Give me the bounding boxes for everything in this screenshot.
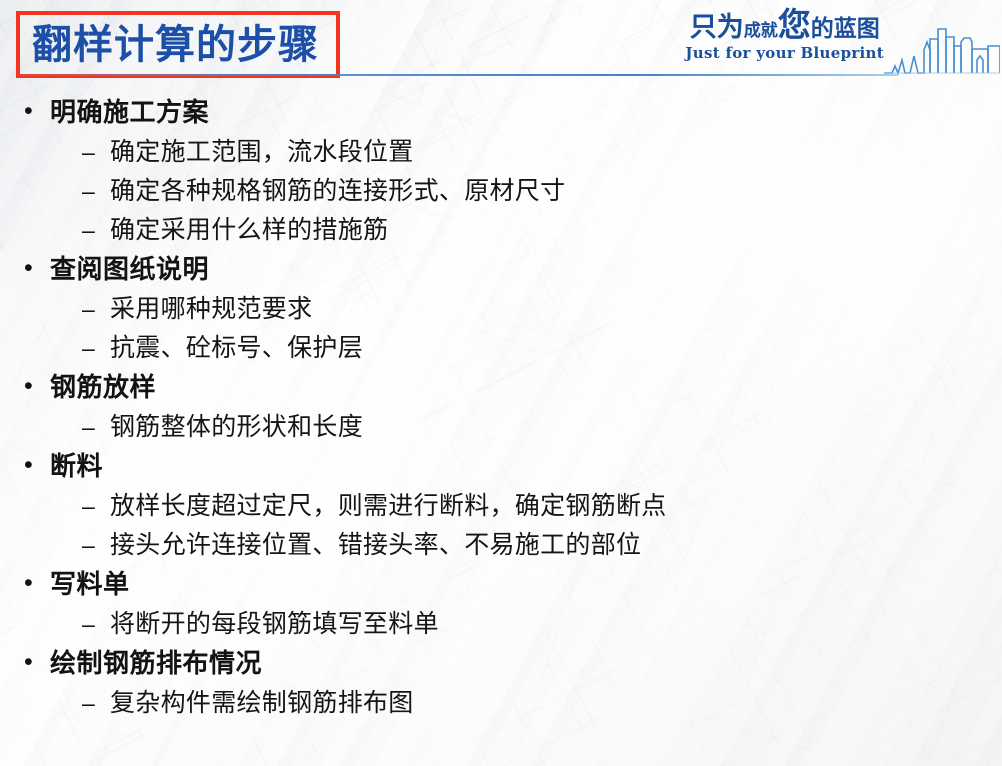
bullet-level2-label: 钢筋整体的形状和长度 bbox=[110, 411, 363, 443]
bullet-marker-icon: • bbox=[24, 450, 50, 480]
bullet-level1-label: 明确施工方案 bbox=[50, 96, 209, 130]
bullet-level1: • 明确施工方案 bbox=[0, 96, 1002, 136]
dash-marker-icon: – bbox=[82, 529, 110, 561]
bullet-level1: • 断料 bbox=[0, 450, 1002, 490]
bullet-level1-label: 写料单 bbox=[50, 568, 130, 602]
bullet-level2: – 确定各种规格钢筋的连接形式、原材尺寸 bbox=[0, 175, 1002, 214]
bullet-level2: – 采用哪种规范要求 bbox=[0, 293, 1002, 332]
bullet-level2-label: 接头允许连接位置、错接头率、不易施工的部位 bbox=[110, 529, 641, 561]
bullet-level1-label: 绘制钢筋排布情况 bbox=[50, 647, 262, 681]
bullet-level1-label: 查阅图纸说明 bbox=[50, 253, 209, 287]
bullet-level2: – 确定采用什么样的措施筋 bbox=[0, 214, 1002, 253]
bullet-level1-label: 钢筋放样 bbox=[50, 371, 156, 405]
dash-marker-icon: – bbox=[82, 332, 110, 364]
bullet-level1: • 写料单 bbox=[0, 568, 1002, 608]
logo-chinese-tagline: 只为成就您的蓝图 bbox=[685, 8, 884, 41]
logo-text-part3: 您 bbox=[778, 5, 811, 44]
bullet-level1: • 绘制钢筋排布情况 bbox=[0, 647, 1002, 687]
bullet-marker-icon: • bbox=[24, 647, 50, 677]
page-title: 翻样计算的步骤 bbox=[32, 25, 319, 65]
header-divider-line bbox=[18, 74, 898, 76]
bullet-level1: • 查阅图纸说明 bbox=[0, 253, 1002, 293]
dash-marker-icon: – bbox=[82, 293, 110, 325]
bullet-level2: – 抗震、砼标号、保护层 bbox=[0, 332, 1002, 371]
bullet-level1-label: 断料 bbox=[50, 450, 103, 484]
slide-content: • 明确施工方案 – 确定施工范围，流水段位置 – 确定各种规格钢筋的连接形式、… bbox=[0, 96, 1002, 726]
logo-english-tagline: Just for your Blueprint bbox=[685, 44, 884, 62]
dash-marker-icon: – bbox=[82, 490, 110, 522]
bullet-level2: – 接头允许连接位置、错接头率、不易施工的部位 bbox=[0, 529, 1002, 568]
slide-title-box: 翻样计算的步骤 bbox=[16, 11, 340, 78]
logo-text-part2: 成就 bbox=[744, 21, 778, 41]
brand-logo: 只为成就您的蓝图 Just for your Blueprint bbox=[685, 8, 884, 62]
dash-marker-icon: – bbox=[82, 214, 110, 246]
bullet-marker-icon: • bbox=[24, 371, 50, 401]
bullet-level2-label: 确定采用什么样的措施筋 bbox=[110, 214, 388, 246]
logo-text-part4: 的蓝图 bbox=[811, 15, 880, 42]
dash-marker-icon: – bbox=[82, 687, 110, 719]
dash-marker-icon: – bbox=[82, 411, 110, 443]
bullet-level2-label: 采用哪种规范要求 bbox=[110, 293, 312, 325]
slide-header: 翻样计算的步骤 只为成就您的蓝图 Just for your Blueprint bbox=[0, 0, 1002, 92]
bullet-level2-label: 确定施工范围，流水段位置 bbox=[110, 136, 414, 168]
presentation-slide: 翻样计算的步骤 只为成就您的蓝图 Just for your Blueprint bbox=[0, 0, 1002, 766]
bullet-marker-icon: • bbox=[24, 253, 50, 283]
dash-marker-icon: – bbox=[82, 608, 110, 640]
dash-marker-icon: – bbox=[82, 175, 110, 207]
logo-text-part1: 只为 bbox=[690, 12, 744, 43]
bullet-marker-icon: • bbox=[24, 96, 50, 126]
dash-marker-icon: – bbox=[82, 136, 110, 168]
city-skyline-icon bbox=[884, 16, 1000, 78]
bullet-level2-label: 将断开的每段钢筋填写至料单 bbox=[110, 608, 439, 640]
bullet-marker-icon: • bbox=[24, 568, 50, 598]
bullet-level2-label: 确定各种规格钢筋的连接形式、原材尺寸 bbox=[110, 175, 565, 207]
bullet-level2-label: 复杂构件需绘制钢筋排布图 bbox=[110, 687, 414, 719]
bullet-level2-label: 放样长度超过定尺，则需进行断料，确定钢筋断点 bbox=[110, 490, 667, 522]
bullet-level2: – 复杂构件需绘制钢筋排布图 bbox=[0, 687, 1002, 726]
bullet-level2-label: 抗震、砼标号、保护层 bbox=[110, 332, 363, 364]
bullet-level2: – 将断开的每段钢筋填写至料单 bbox=[0, 608, 1002, 647]
bullet-level2: – 放样长度超过定尺，则需进行断料，确定钢筋断点 bbox=[0, 490, 1002, 529]
bullet-level2: – 确定施工范围，流水段位置 bbox=[0, 136, 1002, 175]
bullet-level1: • 钢筋放样 bbox=[0, 371, 1002, 411]
bullet-level2: – 钢筋整体的形状和长度 bbox=[0, 411, 1002, 450]
